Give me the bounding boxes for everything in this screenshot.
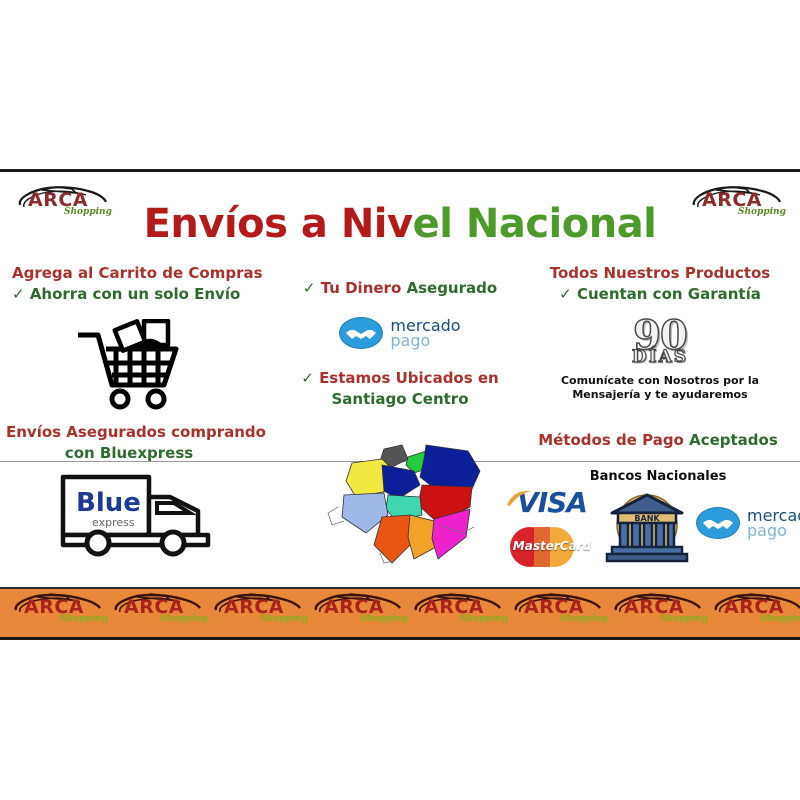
badge-unit: DÍAS bbox=[532, 349, 788, 366]
shopping-cart-icon bbox=[72, 319, 192, 411]
payment-heading-red-text: Métodos de Pago bbox=[538, 431, 689, 449]
warranty-heading-red-text: Todos Nuestros Productos bbox=[550, 264, 771, 282]
money-heading: ✓ Tu Dinero Asegurado bbox=[282, 279, 518, 297]
mastercard-logo: MasterCard bbox=[510, 527, 594, 567]
check-icon: ✓ bbox=[559, 285, 572, 303]
footer-logo-tagline: Shopping bbox=[660, 614, 708, 624]
mercadopago-line2: pago bbox=[390, 333, 460, 349]
payment-methods-row: VISA MasterCard BANK bbox=[500, 487, 800, 573]
location-heading-green: Santiago Centro bbox=[282, 390, 518, 408]
shipping-heading-red-text: Envíos Asegurados comprando bbox=[6, 423, 266, 441]
bank-label-text: BANK bbox=[634, 514, 660, 523]
feature-cart: Agrega al Carrito de Compras ✓ Ahorra co… bbox=[12, 264, 252, 303]
footer-arca-logo: ARCAShopping bbox=[312, 593, 406, 631]
top-divider bbox=[0, 169, 800, 172]
footer-arca-logo: ARCAShopping bbox=[112, 593, 206, 631]
bank-icon: BANK bbox=[604, 491, 690, 563]
footer-arca-logo: ARCAShopping bbox=[612, 593, 706, 631]
feature-payment: Métodos de Pago Aceptados bbox=[524, 431, 792, 449]
mercadopago-line2: pago bbox=[747, 523, 800, 539]
warranty-note-line1: Comunícate con Nosotros por la bbox=[532, 374, 788, 388]
cart-heading-green-text: Ahorra con un solo Envío bbox=[30, 285, 240, 303]
footer-logo-tagline: Shopping bbox=[760, 614, 800, 624]
footer-logo-tagline: Shopping bbox=[360, 614, 408, 624]
handshake-icon bbox=[696, 507, 740, 539]
warranty-heading-green: ✓ Cuentan con Garantía bbox=[532, 285, 788, 303]
chile-region-map bbox=[322, 441, 488, 571]
delivery-truck-icon: Blue express bbox=[58, 471, 224, 557]
footer-logo-tagline: Shopping bbox=[160, 614, 208, 624]
cart-heading-green: ✓ Ahorra con un solo Envío bbox=[12, 285, 252, 303]
location-heading-green-text: Santiago Centro bbox=[331, 390, 468, 408]
footer-arca-logo: ARCAShopping bbox=[212, 593, 306, 631]
warranty-days-badge: 90 DÍAS Comunícate con Nosotros por la M… bbox=[532, 317, 788, 402]
footer-arca-logo: ARCAShopping bbox=[412, 593, 506, 631]
banner-title-red: Envíos a Niv bbox=[144, 201, 413, 247]
banner-title: Envíos a Nivel Nacional bbox=[0, 201, 800, 247]
footer-arca-logo: ARCAShopping bbox=[12, 593, 106, 631]
shipping-heading-red: Envíos Asegurados comprando bbox=[6, 423, 252, 441]
cart-heading-red-text: Agrega al Carrito de Compras bbox=[12, 264, 263, 282]
banner-title-green: el Nacional bbox=[413, 201, 657, 247]
location-heading-red-text: Estamos Ubicados en bbox=[319, 369, 499, 387]
money-heading-red-text: Tu Dinero bbox=[321, 279, 407, 297]
feature-location: ✓ Estamos Ubicados en Santiago Centro bbox=[282, 369, 518, 408]
feature-warranty: Todos Nuestros Productos ✓ Cuentan con G… bbox=[532, 264, 788, 303]
warranty-note-line2: Mensajería y te ayudaremos bbox=[532, 388, 788, 402]
payment-heading: Métodos de Pago Aceptados bbox=[524, 431, 792, 449]
shipping-heading-green: con Bluexpress bbox=[6, 444, 252, 462]
footer-arca-logo: ARCAShopping bbox=[712, 593, 800, 631]
check-icon: ✓ bbox=[303, 279, 316, 297]
mercadopago-logo-top: mercado pago bbox=[282, 317, 518, 351]
truck-brand-text: Blue bbox=[76, 488, 141, 518]
check-icon: ✓ bbox=[301, 369, 314, 387]
check-icon: ✓ bbox=[12, 285, 25, 303]
visa-swoosh-icon bbox=[506, 489, 532, 509]
payment-heading-green-text: Aceptados bbox=[689, 431, 778, 449]
footer-logo-tagline: Shopping bbox=[560, 614, 608, 624]
cart-heading-red: Agrega al Carrito de Compras bbox=[12, 264, 252, 282]
mastercard-logo-text: MasterCard bbox=[510, 539, 594, 553]
feature-money: ✓ Tu Dinero Asegurado bbox=[282, 279, 518, 297]
mercadopago-logo-payment: mercado pago bbox=[696, 507, 800, 541]
money-heading-green-text: Asegurado bbox=[406, 279, 497, 297]
footer-arca-logo: ARCAShopping bbox=[512, 593, 606, 631]
footer-logo-tagline: Shopping bbox=[60, 614, 108, 624]
footer-brand-strip: ARCAShoppingARCAShoppingARCAShoppingARCA… bbox=[0, 587, 800, 640]
handshake-icon bbox=[339, 317, 383, 349]
shipping-heading-green-text: con Bluexpress bbox=[65, 444, 193, 462]
warranty-heading-red: Todos Nuestros Productos bbox=[532, 264, 788, 282]
location-heading-red: ✓ Estamos Ubicados en bbox=[282, 369, 518, 387]
banks-label: Bancos Nacionales bbox=[524, 469, 792, 484]
feature-shipping: Envíos Asegurados comprando con Bluexpre… bbox=[6, 423, 252, 462]
footer-logo-tagline: Shopping bbox=[460, 614, 508, 624]
card-logos-stack: VISA MasterCard bbox=[504, 489, 600, 567]
warranty-heading-green-text: Cuentan con Garantía bbox=[577, 285, 761, 303]
truck-brand-sub-text: express bbox=[92, 516, 135, 529]
promo-banner: ARCA Shopping ARCA Shopping Envíos a Niv… bbox=[0, 169, 800, 639]
footer-logo-tagline: Shopping bbox=[260, 614, 308, 624]
